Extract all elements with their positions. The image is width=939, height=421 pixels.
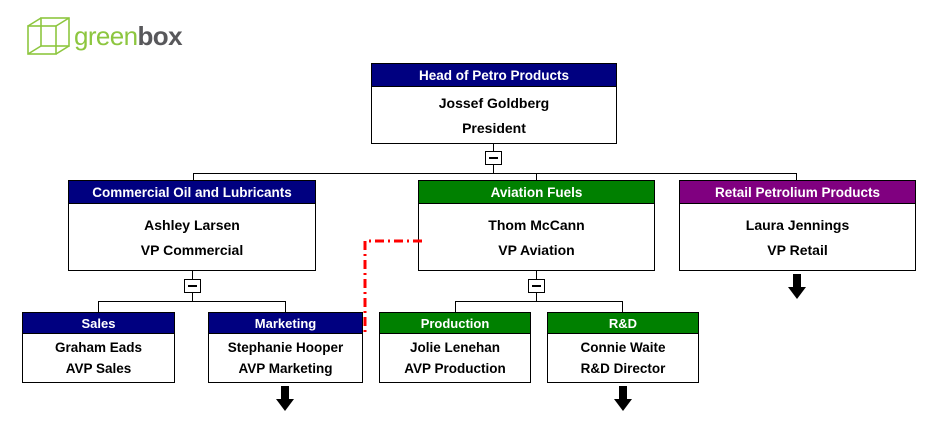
connector-drop-research bbox=[622, 301, 623, 312]
node-research-and-development[interactable]: R&D Connie Waite R&D Director bbox=[547, 312, 699, 383]
node-person-role: AVP Marketing bbox=[238, 361, 332, 376]
node-person-role: VP Aviation bbox=[498, 242, 575, 258]
collapse-toggle-aviation[interactable] bbox=[528, 279, 545, 293]
connector-commercial-bus bbox=[98, 301, 286, 302]
connector-drop-production bbox=[455, 301, 456, 312]
node-sales[interactable]: Sales Graham Eads AVP Sales bbox=[22, 312, 175, 383]
node-person-name: Jossef Goldberg bbox=[439, 95, 549, 111]
node-person-role: VP Retail bbox=[767, 242, 827, 258]
logo-word-green: green bbox=[74, 21, 138, 51]
node-header-title: Commercial Oil and Lubricants bbox=[69, 181, 315, 204]
connector-root-stub bbox=[493, 143, 494, 151]
connector-aviation-bus bbox=[455, 301, 623, 302]
node-person-role: AVP Sales bbox=[66, 361, 132, 376]
connector-aviation-stub-lower bbox=[536, 293, 537, 301]
connector-drop-marketing bbox=[285, 301, 286, 312]
node-body: Jolie Lenehan AVP Production bbox=[380, 334, 530, 382]
node-body: Laura Jennings VP Retail bbox=[680, 204, 915, 270]
node-header-title: Marketing bbox=[209, 313, 362, 334]
expand-arrow-retail[interactable] bbox=[787, 274, 807, 300]
node-person-name: Connie Waite bbox=[580, 340, 665, 355]
wireframe-cube-icon bbox=[27, 16, 71, 56]
node-aviation-fuels[interactable]: Aviation Fuels Thom McCann VP Aviation bbox=[418, 180, 655, 271]
node-body: Ashley Larsen VP Commercial bbox=[69, 204, 315, 270]
node-header-title: Aviation Fuels bbox=[419, 181, 654, 204]
connector-drop-sales bbox=[98, 301, 99, 312]
node-person-name: Stephanie Hooper bbox=[228, 340, 344, 355]
node-person-name: Graham Eads bbox=[55, 340, 142, 355]
node-marketing[interactable]: Marketing Stephanie Hooper AVP Marketing bbox=[208, 312, 363, 383]
node-head-of-petro-products[interactable]: Head of Petro Products Jossef Goldberg P… bbox=[371, 63, 617, 144]
node-body: Thom McCann VP Aviation bbox=[419, 204, 654, 270]
collapse-toggle-root[interactable] bbox=[485, 151, 502, 165]
connector-root-bus bbox=[193, 173, 796, 174]
greenbox-logo: greenbox bbox=[27, 16, 182, 56]
expand-arrow-research[interactable] bbox=[613, 386, 633, 412]
node-commercial-oil-and-lubricants[interactable]: Commercial Oil and Lubricants Ashley Lar… bbox=[68, 180, 316, 271]
node-header-title: Retail Petrolium Products bbox=[680, 181, 915, 204]
node-body: Connie Waite R&D Director bbox=[548, 334, 698, 382]
node-retail-petrolium-products[interactable]: Retail Petrolium Products Laura Jennings… bbox=[679, 180, 916, 271]
logo-wordmark: greenbox bbox=[74, 23, 182, 49]
node-person-role: VP Commercial bbox=[141, 242, 243, 258]
connector-root-stub-lower bbox=[493, 165, 494, 173]
expand-arrow-marketing[interactable] bbox=[275, 386, 295, 412]
logo-word-box: box bbox=[138, 21, 182, 51]
node-header-title: Head of Petro Products bbox=[372, 64, 616, 87]
node-person-name: Ashley Larsen bbox=[144, 217, 240, 233]
node-header-title: Sales bbox=[23, 313, 174, 334]
node-body: Graham Eads AVP Sales bbox=[23, 334, 174, 382]
node-body: Stephanie Hooper AVP Marketing bbox=[209, 334, 362, 382]
connector-aviation-stub bbox=[536, 271, 537, 279]
connector-commercial-stub bbox=[192, 271, 193, 279]
collapse-toggle-commercial[interactable] bbox=[184, 279, 201, 293]
org-chart-canvas: greenbox Head of Petro Products Jossef G… bbox=[0, 0, 939, 421]
node-person-name: Laura Jennings bbox=[746, 217, 849, 233]
node-person-role: R&D Director bbox=[581, 361, 666, 376]
node-body: Jossef Goldberg President bbox=[372, 87, 616, 143]
node-person-name: Thom McCann bbox=[488, 217, 584, 233]
node-header-title: R&D bbox=[548, 313, 698, 334]
node-person-role: President bbox=[462, 120, 526, 136]
node-person-role: AVP Production bbox=[404, 361, 506, 376]
connector-commercial-stub-lower bbox=[192, 293, 193, 301]
node-person-name: Jolie Lenehan bbox=[410, 340, 500, 355]
